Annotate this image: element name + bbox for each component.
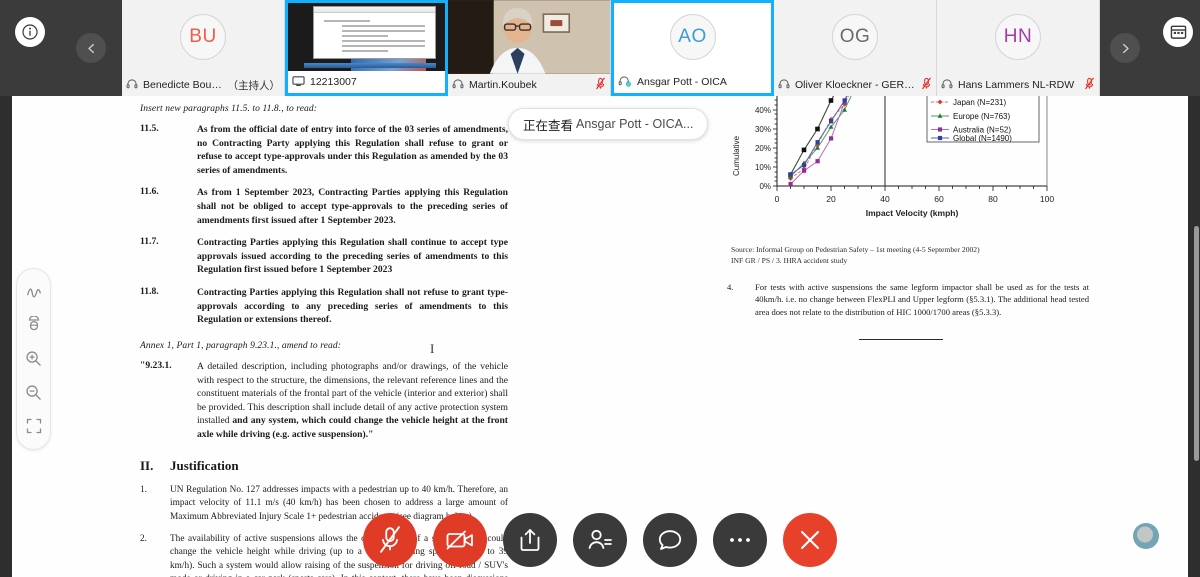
- host-tag: （主持人）: [228, 78, 281, 93]
- participant-tile-martin[interactable]: Martin.Koubek: [448, 0, 611, 96]
- participant-tiles: BU Benedicte Boudol - UNE... （主持人）: [122, 0, 1100, 96]
- avatar: OG: [832, 14, 878, 60]
- participant-tile-benedicte[interactable]: BU Benedicte Boudol - UNE... （主持人）: [122, 0, 285, 96]
- headset-icon: [452, 78, 464, 93]
- paragraph-text: As from the official date of entry into …: [197, 123, 508, 177]
- video-feed: [448, 0, 610, 74]
- section-title: Justification: [170, 458, 239, 474]
- avatar-wrap: HN: [937, 0, 1099, 74]
- participant-tile-screenshare[interactable]: 12213007: [285, 0, 448, 96]
- headset-icon: [941, 78, 953, 93]
- svg-text:100: 100: [1040, 194, 1054, 204]
- participant-filmstrip: BU Benedicte Boudol - UNE... （主持人）: [0, 0, 1200, 96]
- item-number: 4.: [727, 281, 755, 318]
- participant-name: Oliver Kloeckner - GERMANY: [795, 79, 916, 91]
- svg-text:80: 80: [988, 194, 998, 204]
- source-line-2: INF GR / PS / 3. IHRA accident study: [731, 255, 1071, 266]
- draw-pen-icon[interactable]: [21, 279, 47, 305]
- justification-item-4: 4. For tests with active suspensions the…: [727, 281, 1089, 318]
- participant-name: 12213007: [310, 76, 441, 88]
- filmstrip-left-controls: [0, 0, 122, 96]
- svg-text:10%: 10%: [755, 163, 771, 172]
- annotation-toolbar: [16, 268, 51, 450]
- item-text: For tests with active suspensions the sa…: [755, 281, 1089, 318]
- video-off-button[interactable]: [433, 513, 487, 567]
- right-scrollbar-track[interactable]: [1188, 96, 1200, 577]
- svg-text:60: 60: [934, 194, 944, 204]
- paragraph-number: "9.23.1.: [140, 360, 197, 442]
- annex-text-bold: and any system, which could change the v…: [197, 415, 508, 440]
- participant-name: Benedicte Boudol - UNE...: [143, 79, 223, 91]
- svg-text:0: 0: [775, 194, 780, 204]
- mic-muted-icon: [595, 77, 606, 93]
- participant-name: Hans Lammers NL-RDW: [958, 79, 1079, 91]
- share-screen-button[interactable]: [503, 513, 557, 567]
- meeting-info-icon[interactable]: [15, 17, 45, 47]
- svg-text:30%: 30%: [755, 125, 771, 134]
- horizontal-rule: [859, 339, 943, 340]
- watermark-avatar-icon: [1132, 522, 1160, 550]
- taskbar: [304, 63, 436, 68]
- svg-text:Europe (N=763): Europe (N=763): [953, 112, 1010, 121]
- headset-icon: [126, 78, 138, 93]
- avatar-wrap: BU: [122, 0, 284, 74]
- viewing-prefix: 正在查看: [523, 115, 573, 134]
- source-line-1: Source: Informal Group on Pedestrian Saf…: [731, 244, 1071, 255]
- fullscreen-icon[interactable]: [21, 413, 47, 439]
- svg-text:40%: 40%: [755, 106, 771, 115]
- text-cursor-icon: I: [430, 341, 434, 357]
- paragraph-11-8: 11.8. Contracting Parties applying this …: [140, 286, 508, 327]
- participant-name-bar: Martin.Koubek: [448, 74, 610, 96]
- scrollbar-thumb[interactable]: [1194, 226, 1199, 461]
- headset-icon: [778, 78, 790, 93]
- svg-text:20: 20: [826, 194, 836, 204]
- participants-button[interactable]: [573, 513, 627, 567]
- avatar-wrap: OG: [774, 0, 936, 74]
- avatar: HN: [995, 14, 1041, 60]
- spotlight-icon[interactable]: [21, 312, 47, 338]
- participant-name-bar: Hans Lammers NL-RDW: [937, 74, 1099, 96]
- paragraph-number: 11.5.: [140, 123, 197, 177]
- paragraph-text: As from 1 September 2023, Contracting Pa…: [197, 186, 508, 227]
- item-number: 2.: [140, 533, 170, 577]
- zoom-meeting-window: BU Benedicte Boudol - UNE... （主持人）: [0, 0, 1200, 577]
- chart-svg: Cumulative 40% 30% 20% 10% 0%: [727, 96, 1087, 221]
- annex-lead-in: Annex 1, Part 1, paragraph 9.23.1., amen…: [140, 341, 508, 351]
- paragraph-text: A detailed description, including photog…: [197, 360, 508, 442]
- svg-text:40: 40: [880, 194, 890, 204]
- svg-text:Impact Velocity (kmph): Impact Velocity (kmph): [866, 208, 959, 218]
- avatar: AO: [670, 14, 716, 60]
- paragraph-number: 11.7.: [140, 236, 197, 277]
- filmstrip-next-button[interactable]: [1110, 33, 1140, 63]
- paragraph-11-7: 11.7. Contracting Parties applying this …: [140, 236, 508, 277]
- avatar: BU: [180, 14, 226, 60]
- svg-text:Japan (N=231): Japan (N=231): [953, 98, 1006, 107]
- avatar-wrap: AO: [614, 3, 771, 71]
- document-page: Insert new paragraphs 11.5. to 11.8., to…: [12, 96, 1188, 577]
- mic-muted-icon: [921, 77, 932, 93]
- participant-name: Martin.Koubek: [469, 79, 590, 91]
- participant-tile-hans[interactable]: HN Hans Lammers NL-RDW: [937, 0, 1100, 96]
- paragraph-11-5: 11.5. As from the official date of entry…: [140, 123, 508, 177]
- left-edge-strip: [0, 96, 12, 577]
- zoom-out-icon[interactable]: [21, 380, 47, 406]
- headset-active-icon: [618, 75, 632, 90]
- zoom-in-icon[interactable]: [21, 346, 47, 372]
- participant-name: Ansgar Pott - OICA: [637, 76, 767, 88]
- document-left-column: Insert new paragraphs 11.5. to 11.8., to…: [140, 104, 508, 577]
- end-call-button[interactable]: [783, 513, 837, 567]
- item-number: 1.: [140, 484, 170, 524]
- viewing-participant-name: Ansgar Pott - OICA...: [576, 117, 693, 131]
- svg-text:Cumulative: Cumulative: [732, 135, 741, 176]
- screen-share-preview: [288, 3, 445, 71]
- participant-name-bar: Ansgar Pott - OICA: [614, 71, 771, 93]
- participant-name-bar: Benedicte Boudol - UNE... （主持人）: [122, 74, 284, 96]
- participant-name-bar: Oliver Kloeckner - GERMANY: [774, 74, 936, 96]
- paragraph-text: Contracting Parties applying this Regula…: [197, 286, 508, 327]
- filmstrip-right-controls: [1100, 0, 1200, 96]
- paragraph-number: 11.6.: [140, 186, 197, 227]
- participant-tile-oliver[interactable]: OG Oliver Kloeckner - GERMANY: [774, 0, 937, 96]
- participant-name-bar: 12213007: [288, 71, 445, 93]
- viewing-status-tooltip: 正在查看 Ansgar Pott - OICA...: [508, 108, 708, 140]
- paragraph-text: Contracting Parties applying this Regula…: [197, 236, 508, 277]
- svg-text:20%: 20%: [755, 144, 771, 153]
- section-heading-justification: II. Justification: [140, 458, 508, 474]
- shared-document-preview: [313, 6, 435, 59]
- pedestrian-impact-chart: Cumulative 40% 30% 20% 10% 0%: [727, 96, 1087, 221]
- filmstrip-prev-button[interactable]: [76, 33, 106, 63]
- section-number: II.: [140, 458, 154, 474]
- participant-tile-ansgar[interactable]: AO Ansgar Pott - OICA: [611, 0, 774, 96]
- chat-button[interactable]: [643, 513, 697, 567]
- paragraph-number: 11.8.: [140, 286, 197, 327]
- shared-screen-content: Insert new paragraphs 11.5. to 11.8., to…: [12, 96, 1188, 577]
- mic-off-button[interactable]: [363, 513, 417, 567]
- mic-muted-icon: [1084, 77, 1095, 93]
- screen-share-icon: [292, 75, 305, 90]
- lead-in-text: Insert new paragraphs 11.5. to 11.8., to…: [140, 104, 508, 114]
- paragraph-11-6: 11.6. As from 1 September 2023, Contract…: [140, 186, 508, 227]
- more-options-button[interactable]: [713, 513, 767, 567]
- calendar-icon[interactable]: [1163, 17, 1193, 47]
- svg-text:0%: 0%: [759, 182, 771, 191]
- chart-source-note: Source: Informal Group on Pedestrian Saf…: [731, 244, 1071, 267]
- paragraph-9-23-1: "9.23.1. A detailed description, includi…: [140, 360, 508, 442]
- svg-text:Global (N=1490): Global (N=1490): [953, 134, 1012, 143]
